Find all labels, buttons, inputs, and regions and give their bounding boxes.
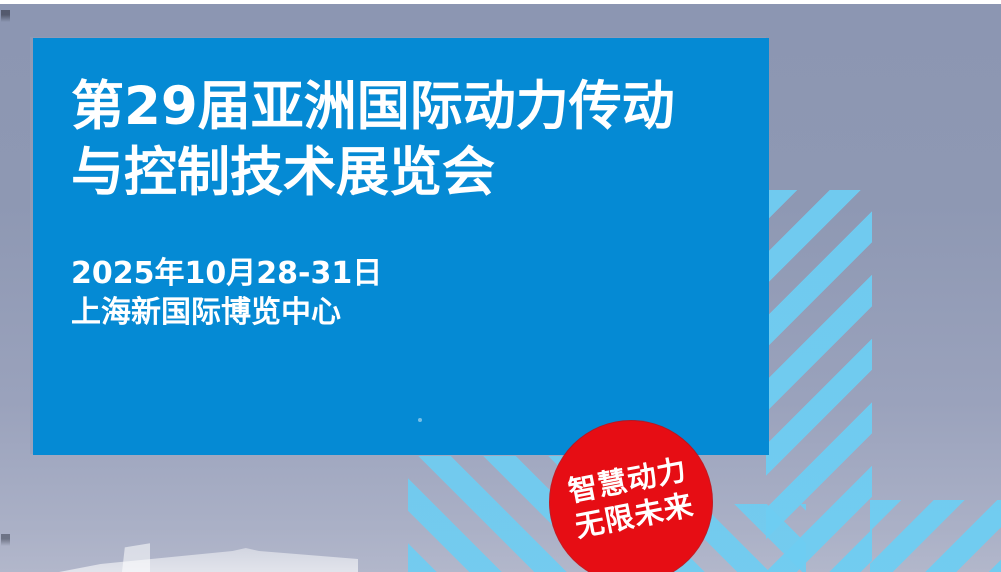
event-info: 2025年10月28-31日 上海新国际博览中心	[71, 254, 671, 332]
title-line-1: 第29届亚洲国际动力传动	[71, 74, 731, 140]
building-edge-highlight	[122, 542, 150, 572]
event-venue: 上海新国际博览中心	[71, 293, 671, 332]
background-plate: 第29届亚洲国际动力传动 与控制技术展览会 2025年10月28-31日 上海新…	[0, 4, 1001, 572]
blue-title-panel: 第29届亚洲国际动力传动 与控制技术展览会 2025年10月28-31日 上海新…	[33, 38, 769, 455]
event-dates: 2025年10月28-31日	[71, 254, 671, 293]
slogan-stamp-badge: 智慧动力 无限未来	[550, 421, 712, 572]
edge-registration-tick-top	[1, 10, 10, 22]
title-line-2: 与控制技术展览会	[71, 140, 731, 206]
top-white-border	[0, 0, 1001, 4]
building-silhouette	[28, 528, 358, 572]
slogan-stamp-text: 智慧动力 无限未来	[565, 451, 697, 545]
panel-speck	[418, 418, 422, 422]
exhibition-poster: 第29届亚洲国际动力传动 与控制技术展览会 2025年10月28-31日 上海新…	[0, 0, 1001, 572]
page-title: 第29届亚洲国际动力传动 与控制技术展览会	[71, 74, 731, 206]
edge-registration-tick-bottom	[1, 534, 10, 546]
diagonal-stripes-far-right	[870, 500, 1001, 572]
